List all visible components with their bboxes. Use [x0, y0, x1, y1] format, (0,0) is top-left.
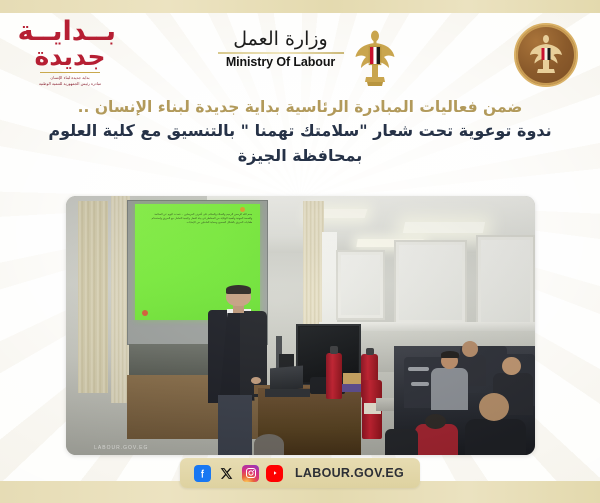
ministry-of-labour-wordmark: وزارة العمل Ministry Of Labour	[213, 29, 348, 69]
presenter-legs	[218, 395, 252, 455]
presenter-hand	[251, 377, 261, 384]
slide-text: بسم الله الرحمن الرحيم والصلاة والسلام ع…	[150, 213, 252, 225]
website-url[interactable]: LABOUR.GOV.EG	[295, 466, 404, 480]
attendee-head	[425, 414, 446, 430]
bedaya-logo-mark: بــدايــة جديدة	[24, 19, 116, 69]
bedaya-divider	[40, 72, 100, 73]
wordmark-arabic: وزارة العمل	[213, 29, 348, 50]
wall-panel	[336, 250, 385, 320]
x-twitter-icon[interactable]	[218, 465, 235, 482]
headline-line-1: ضمن فعاليات المبادرة الرئاسية بداية جديد…	[18, 96, 582, 119]
box-on-desk	[340, 384, 361, 392]
egypt-eagle-emblem-icon	[354, 27, 396, 89]
box-on-desk	[343, 373, 363, 383]
facebook-icon[interactable]	[194, 465, 211, 482]
wall-pilaster	[78, 201, 108, 393]
youtube-icon[interactable]	[266, 465, 283, 482]
presenter-hair	[226, 285, 251, 294]
ministry-of-labour-seal	[514, 23, 578, 87]
wordmark-english: Ministry Of Labour	[213, 55, 348, 69]
headline-block: ضمن فعاليات المبادرة الرئاسية بداية جديد…	[18, 96, 582, 169]
ceiling-light	[403, 222, 485, 233]
attendee-head	[462, 341, 478, 357]
laptop-lid	[270, 366, 303, 392]
wordmark-divider	[218, 52, 344, 55]
presenter-jacket-right	[240, 311, 266, 396]
headline-line-3: بمحافظة الجيزة	[18, 144, 582, 169]
attendee-head	[502, 357, 521, 375]
bedaya-mark-line2: جديدة	[24, 45, 116, 69]
attendee-head	[254, 434, 284, 455]
headline-line-2: ندوة توعوية تحت شعار "سلامتك تهمنا " بال…	[18, 119, 582, 144]
seminar-photo: بسم الله الرحمن الرحيم والصلاة والسلام ع…	[66, 196, 535, 455]
fire-extinguisher	[326, 353, 342, 400]
attendee-body	[465, 419, 526, 455]
header: بــدايــة جديدة بداية جديدة لبناء الإنسا…	[0, 13, 600, 95]
slide-bullet-dot	[142, 310, 148, 316]
wall-pilaster	[322, 232, 337, 336]
chair-tablet-arm	[411, 382, 430, 386]
attendee-body	[431, 368, 469, 409]
bedaya-subtitle-line2: مبادرة رئيس الجمهورية للتنمية الوطنية	[24, 81, 116, 87]
attendee-hair	[441, 351, 459, 358]
bedaya-logo: بــدايــة جديدة بداية جديدة لبناء الإنسا…	[24, 19, 116, 86]
wall-panel	[476, 235, 535, 328]
photo-watermark: LABOUR.GOV.EG	[94, 445, 148, 451]
fire-extinguisher-valve	[366, 348, 374, 356]
fire-extinguisher-valve	[330, 346, 338, 354]
seal-emblem-icon	[526, 33, 566, 77]
poster-canvas: بــدايــة جديدة بداية جديدة لبناء الإنسا…	[0, 0, 600, 503]
attendee-body	[385, 429, 418, 455]
wall-panel	[394, 240, 467, 325]
slide-bullet-dot	[240, 207, 245, 212]
instagram-icon[interactable]	[242, 465, 259, 482]
footer-social-bar: LABOUR.GOV.EG	[180, 458, 420, 488]
top-accent-bar	[0, 0, 600, 13]
chair-tablet-arm	[408, 367, 429, 371]
laptop-base	[265, 389, 310, 397]
